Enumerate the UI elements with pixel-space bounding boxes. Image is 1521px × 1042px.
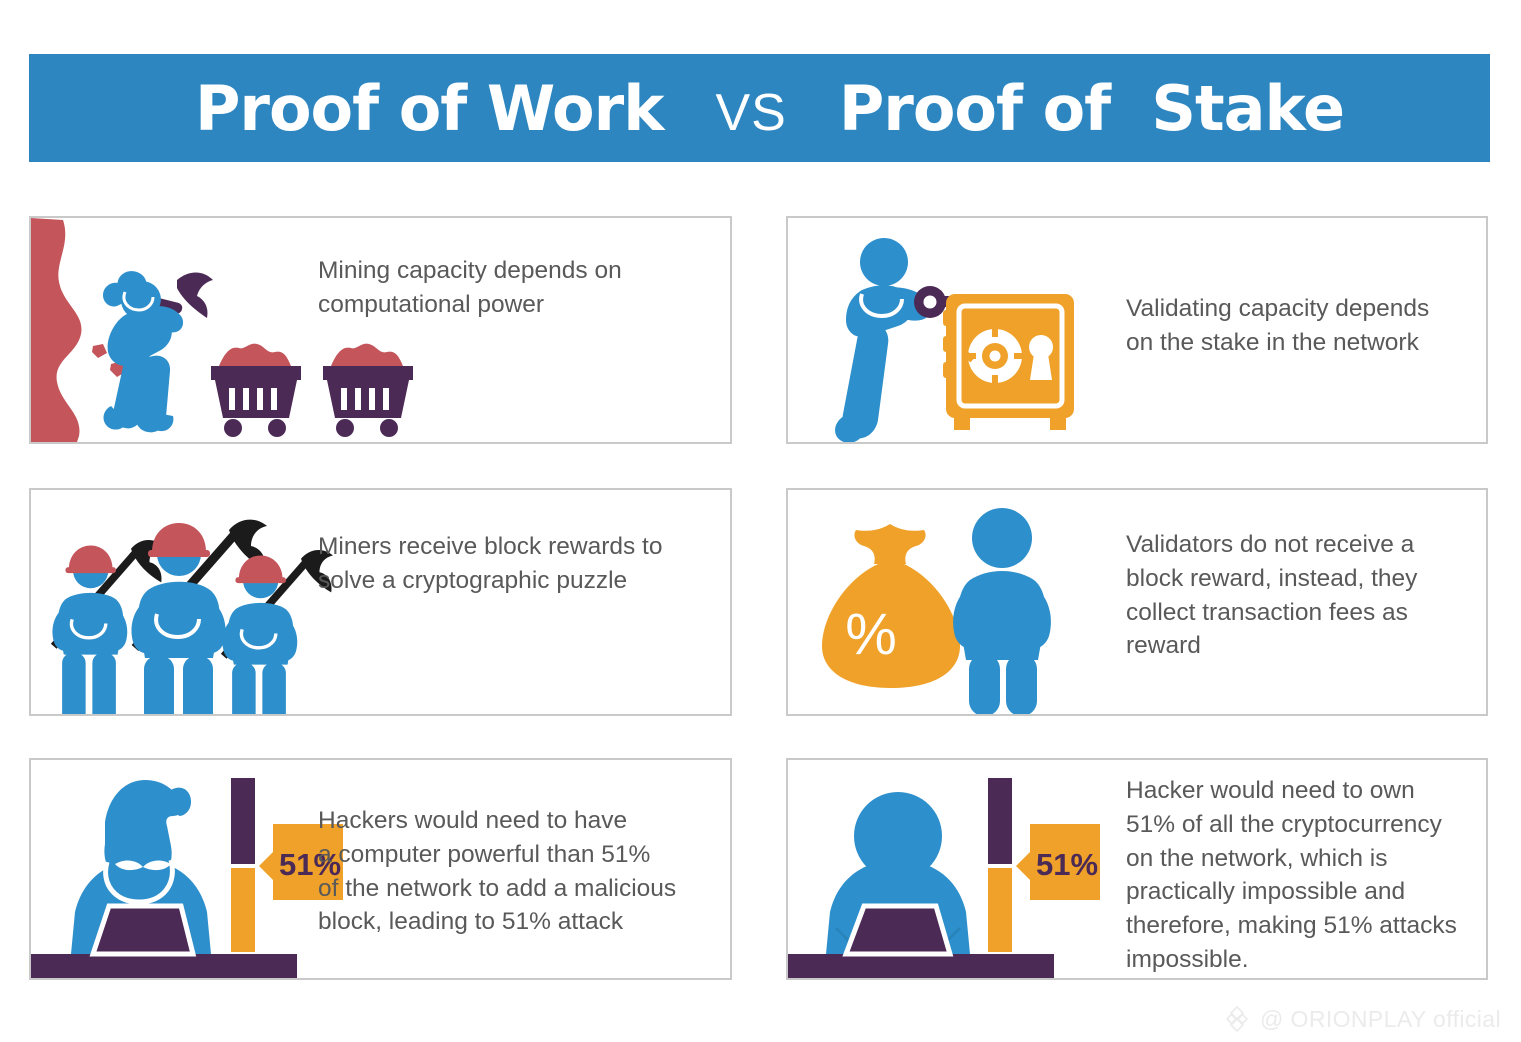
versus-label: VS — [663, 83, 838, 143]
panel-text-pos-2: Validators do not receive a block reward… — [1126, 528, 1456, 663]
illustration-person-with-key-and-safe — [788, 218, 1088, 442]
money-bag-percent: % — [845, 602, 897, 667]
watermark: @ ORIONPLAY official — [1222, 1004, 1501, 1034]
panel-pos-transaction-fees: % Validators do not receive a block rewa… — [786, 488, 1488, 716]
panel-pow-mining-capacity: Mining capacity depends on computational… — [29, 216, 732, 444]
bar-segment-orange — [988, 868, 1012, 952]
panel-pow-block-rewards: Miners receive block rewards to solve a … — [29, 488, 732, 716]
header-title-row: Proof of Work VS Proof of Stake — [29, 72, 1490, 145]
watermark-text: @ ORIONPLAY official — [1260, 1006, 1501, 1033]
panel-pos-validating-capacity: Validating capacity depends on the stake… — [786, 216, 1488, 444]
bar-segment-orange — [231, 868, 255, 952]
illustration-miner-with-pickaxe-and-carts — [31, 218, 331, 442]
panel-pow-51-attack: 51% Hackers would need to have a compute… — [29, 758, 732, 980]
panel-text-pos-3: Hacker would need to own 51% of all the … — [1126, 774, 1476, 977]
page-title-proof-of-work: Proof of Work — [195, 72, 664, 145]
header-band: Proof of Work VS Proof of Stake — [29, 54, 1490, 162]
panel-pos-51-attack-impossible: 51% Hacker would need to own 51% of all … — [786, 758, 1488, 980]
illustration-person-at-laptop-with-bar: 51% — [788, 760, 1088, 978]
badge-label-51-percent: 51% — [1036, 847, 1098, 882]
validator-person — [953, 508, 1051, 716]
diamond-logo-icon — [1222, 1004, 1252, 1034]
panel-text-pow-2: Miners receive block rewards to solve a … — [318, 530, 718, 598]
bar-segment-purple — [988, 778, 1012, 864]
panel-text-pow-3: Hackers would need to have a computer po… — [318, 804, 728, 939]
illustration-money-bag-and-person: % — [788, 490, 1088, 714]
illustration-three-miners-with-pickaxes — [31, 490, 331, 714]
panel-text-pow-1: Mining capacity depends on computational… — [318, 254, 718, 322]
page-title-proof-of-stake: Proof of Stake — [839, 72, 1344, 145]
money-bag: % — [822, 524, 960, 688]
illustration-hacker-at-laptop-with-bar: 51% — [31, 760, 331, 978]
panel-text-pos-1: Validating capacity depends on the stake… — [1126, 292, 1466, 360]
bar-segment-purple — [231, 778, 255, 864]
